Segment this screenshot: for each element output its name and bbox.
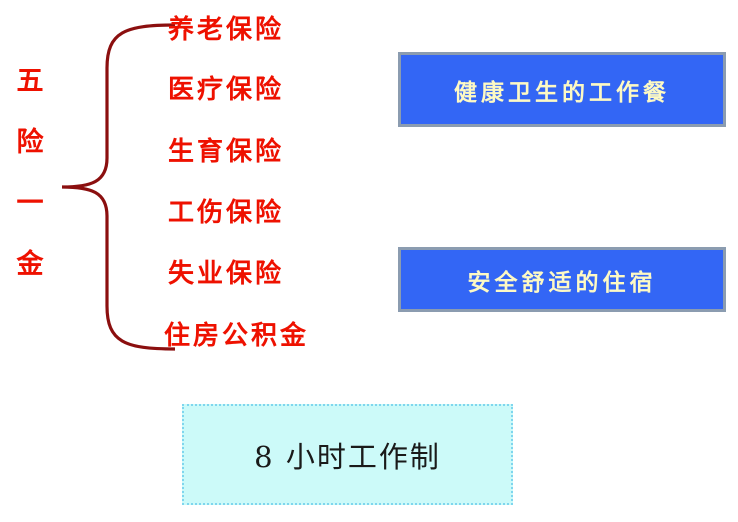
list-item-work-injury-insurance: 工伤保险 [168,193,284,233]
vertical-label-char-1: 五 [8,60,52,121]
insurance-item-list: 养老保险 医疗保险 生育保险 工伤保险 失业保险 住房公积金 [160,0,360,370]
five-insurances-one-fund-label: 五 险 一 金 [8,60,52,304]
benefit-box-meals-label: 健康卫生的工作餐 [454,73,670,107]
vertical-label-char-2: 险 [8,121,52,182]
list-item-medical-insurance: 医疗保险 [168,70,284,110]
benefit-box-work-hours: 8 小时工作制 [182,404,513,505]
benefit-box-housing-label: 安全舒适的住宿 [468,263,657,297]
list-item-pension-insurance: 养老保险 [168,10,284,50]
list-item-maternity-insurance: 生育保险 [168,132,284,172]
benefit-box-housing: 安全舒适的住宿 [398,247,726,312]
benefit-box-meals: 健康卫生的工作餐 [398,52,726,127]
list-item-housing-fund: 住房公积金 [164,316,309,356]
benefit-box-work-hours-label: 8 小时工作制 [254,434,441,476]
vertical-label-char-3: 一 [8,182,52,243]
list-item-unemployment-insurance: 失业保险 [168,254,284,294]
curly-brace-icon [55,10,175,360]
vertical-label-char-4: 金 [8,243,52,304]
slide-canvas: 五 险 一 金 养老保险 医疗保险 生育保险 工伤保险 失业保险 住房公积金 健… [0,0,738,522]
